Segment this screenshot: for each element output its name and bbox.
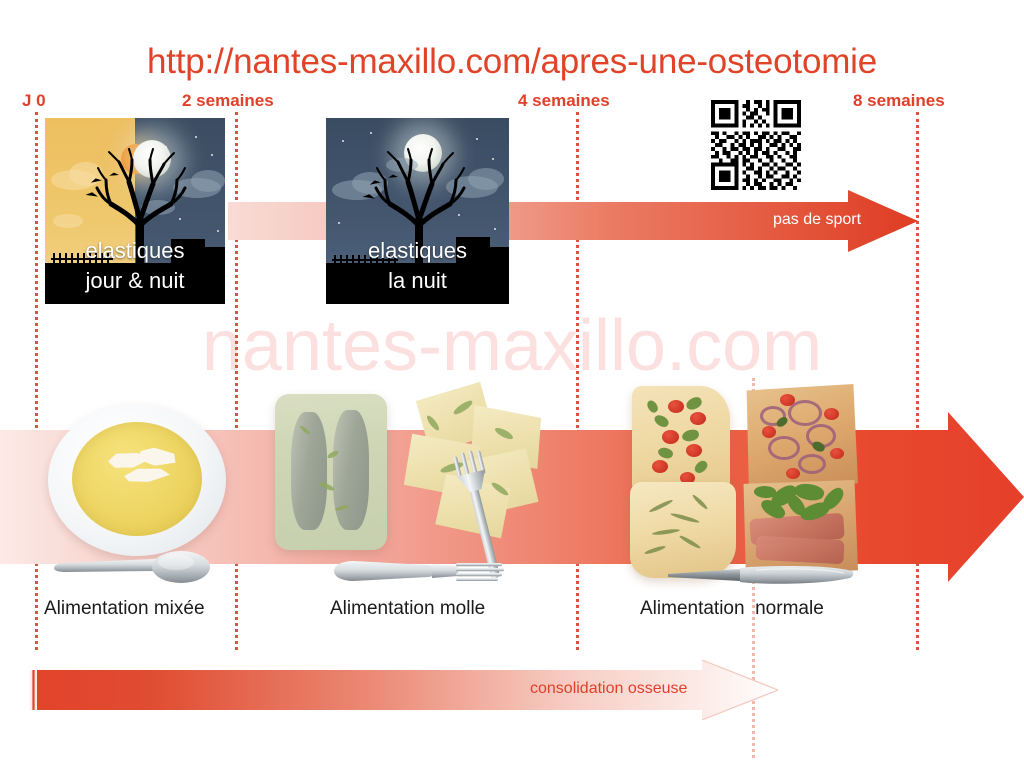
food-stage-caption-normale: Alimentation normale [640, 598, 824, 620]
food-stage-caption-molle: Alimentation molle [330, 598, 485, 620]
elastics-day-night-caption-line2: jour & nuit [45, 268, 225, 293]
timeline-tick-label-j0: J 0 [22, 91, 46, 111]
infographic-canvas: nantes-maxillo.com http://nantes-maxillo… [0, 0, 1024, 768]
fork-icon [332, 552, 504, 590]
elastics-night-card: elastiques la nuit [326, 118, 509, 304]
no-sport-arrow-label: pas de sport [773, 211, 861, 229]
elastics-night-caption-line2: la nuit [326, 268, 509, 293]
timeline-tick-label-2-semaines: 2 semaines [182, 91, 274, 111]
focaccia-tomato-basil [632, 386, 730, 496]
qr-code[interactable] [707, 96, 805, 194]
timeline-tick-label-4-semaines: 4 semaines [518, 91, 610, 111]
steamed-fish-dish [275, 394, 387, 550]
site-watermark: nantes-maxillo.com [0, 305, 1024, 387]
elastics-night-caption-line1: elastiques [326, 238, 509, 263]
fish-fillet [333, 410, 369, 530]
pizza-onion-tomato [742, 384, 858, 492]
bone-consolidation-arrow: consolidation osseuse [30, 660, 778, 720]
spoon-icon [50, 548, 210, 584]
bone-consolidation-arrow-label: consolidation osseuse [530, 680, 687, 698]
timeline-tick-label-8-semaines: 8 semaines [853, 91, 945, 111]
elastics-day-night-card: elastiques jour & nuit [45, 118, 225, 304]
knife-icon [666, 562, 856, 588]
fish-fillet [291, 412, 327, 530]
page-title: http://nantes-maxillo.com/apres-une-oste… [0, 42, 1024, 82]
elastics-day-night-caption-line1: elastiques [45, 238, 225, 263]
food-stage-caption-mixee: Alimentation mixée [44, 598, 205, 620]
